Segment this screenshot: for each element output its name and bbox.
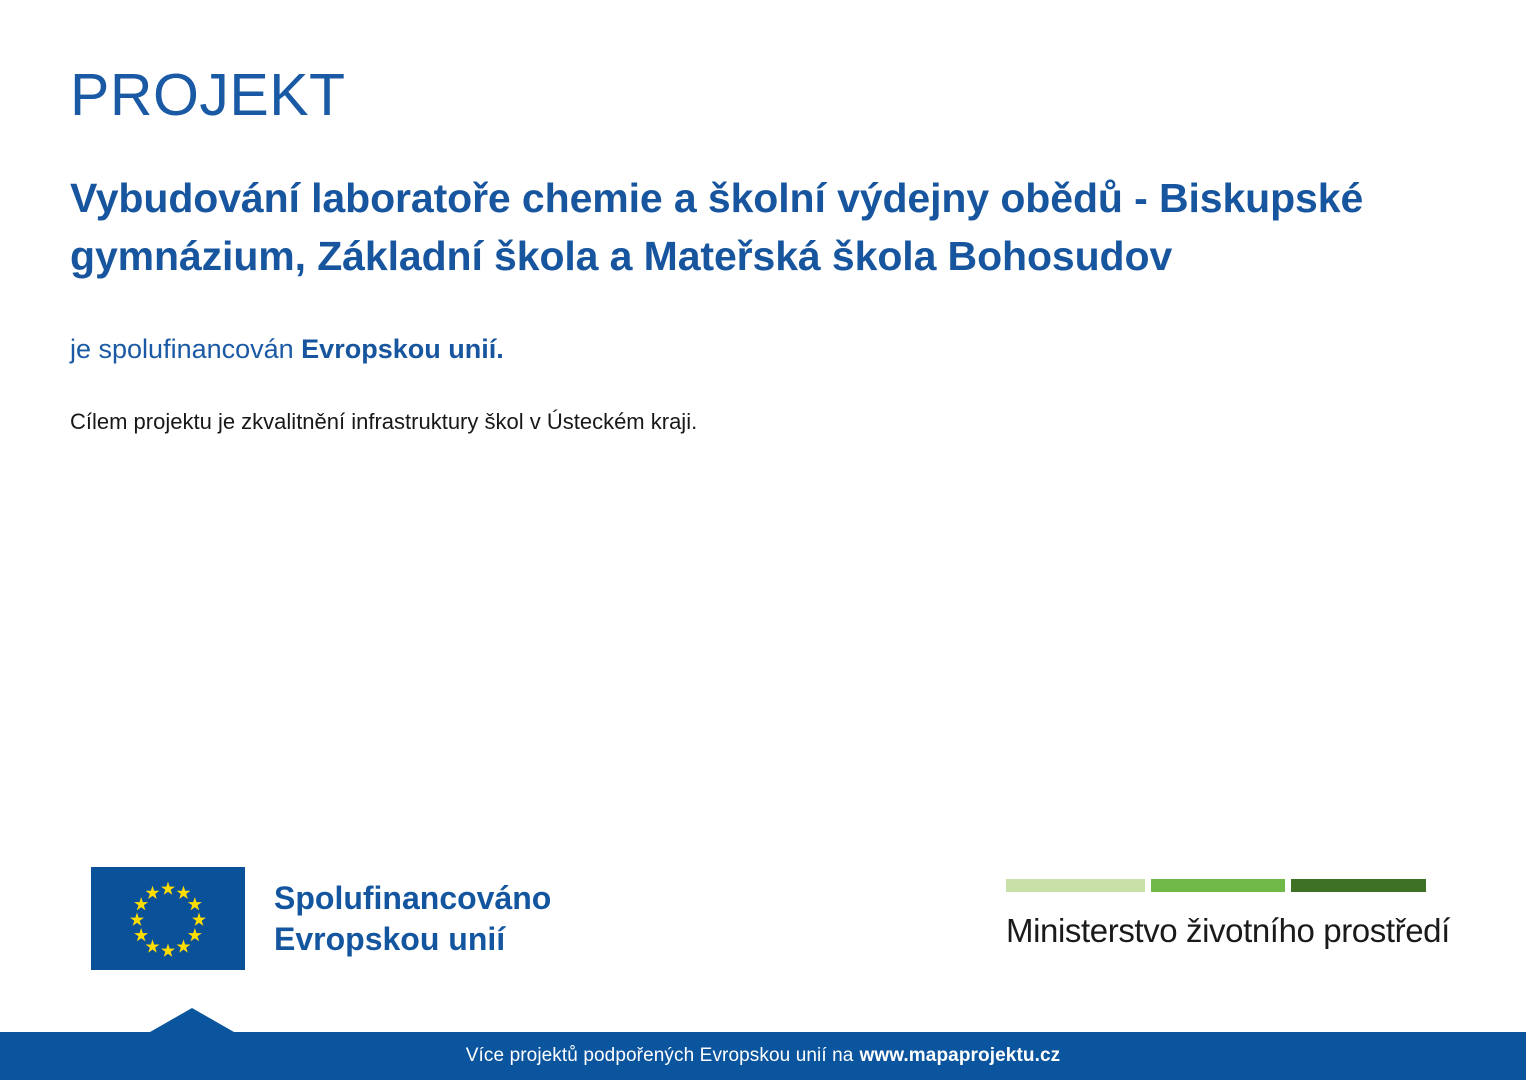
eu-cofinancing-logo: Spolufinancováno Evropskou unií bbox=[91, 867, 551, 970]
footer-text: Více projektů podpořených Evropskou unií… bbox=[0, 1032, 1526, 1080]
page-eyebrow: PROJEKT bbox=[70, 66, 1410, 125]
footer-text-prefix: Více projektů podpořených Evropskou unií… bbox=[466, 1045, 854, 1067]
bar-medium-green bbox=[1151, 879, 1285, 892]
eu-caption-line-2: Evropskou unií bbox=[274, 919, 551, 960]
footer-url-link[interactable]: www.mapaprojektu.cz bbox=[859, 1045, 1060, 1067]
footer-bar: Více projektů podpořených Evropskou unií… bbox=[0, 1032, 1526, 1080]
ministry-name: Ministerstvo životního prostředí bbox=[1006, 912, 1426, 950]
ministry-of-environment-logo: Ministerstvo životního prostředí bbox=[1006, 879, 1426, 950]
cofinance-source: Evropskou unií. bbox=[301, 334, 504, 364]
cofinance-statement: je spolufinancován Evropskou unií. bbox=[70, 333, 1410, 365]
project-goal-text: Cílem projektu je zkvalitnění infrastruk… bbox=[70, 408, 1410, 437]
project-publicity-poster: PROJEKT Vybudování laboratoře chemie a š… bbox=[0, 0, 1526, 1080]
logo-row: Spolufinancováno Evropskou unií Minister… bbox=[0, 858, 1526, 988]
page-title: Vybudování laboratoře chemie a školní vý… bbox=[70, 169, 1370, 285]
bar-dark-green bbox=[1291, 879, 1426, 892]
eu-logo-caption: Spolufinancováno Evropskou unií bbox=[274, 878, 551, 960]
bar-light-green bbox=[1006, 879, 1145, 892]
ministry-bars-icon bbox=[1006, 879, 1426, 892]
eu-flag-icon bbox=[91, 867, 245, 970]
eu-caption-line-1: Spolufinancováno bbox=[274, 878, 551, 919]
poster-content: PROJEKT Vybudování laboratoře chemie a š… bbox=[70, 66, 1410, 436]
footer-notch-triangle bbox=[150, 1008, 234, 1032]
cofinance-prefix: je spolufinancován bbox=[70, 334, 301, 364]
